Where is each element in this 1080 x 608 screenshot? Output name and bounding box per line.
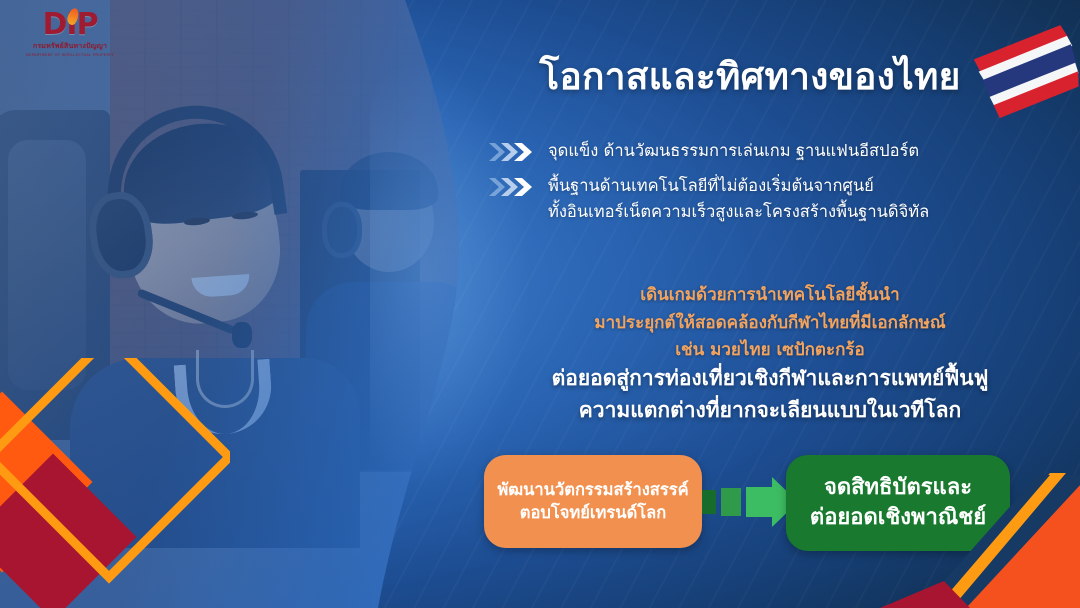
flow-diagram: พัฒนานวัตกรรมสร้างสรรค์ ตอบโจทย์เทรนด์โล… [480,455,1080,555]
flow-step-one[interactable]: พัฒนานวัตกรรมสร้างสรรค์ ตอบโจทย์เทรนด์โล… [484,455,702,548]
list-item-line: ทั้งอินเทอร์เน็ตความเร็วสูงและโครงสร้างพ… [548,202,929,221]
list-item-label: พื้นฐานด้านเทคโนโลยีที่ไม่ต้องเริ่มต้นจา… [548,173,929,226]
emphasis-line: ต่อยอดสู่การท่องเที่ยวเชิงกีฬาและการแพทย… [470,363,1070,395]
highlight-paragraph: เดินเกมด้วยการนำเทคโนโลยีชั้นนำ มาประยุก… [470,282,1070,365]
list-item-line: พื้นฐานด้านเทคโนโลยีที่ไม่ต้องเริ่มต้นจา… [548,176,874,195]
highlight-line: เดินเกมด้วยการนำเทคโนโลยีชั้นนำ [470,282,1070,310]
flow-step-two-line: จดสิทธิบัตรและ [810,473,986,503]
right-arrow-icon [702,477,798,527]
content-column: โอกาสและทิศทางของไทย จุดแข็ง ด้านวัฒนธรร… [470,0,1080,608]
flow-step-one-text: พัฒนานวัตกรรมสร้างสรรค์ ตอบโจทย์เทรนด์โล… [497,479,688,525]
infographic-slide: DIP กรมทรัพย์สินทางปัญญา DEPARTMENT OF I… [0,0,1080,608]
logo-english-name: DEPARTMENT OF INTELLECTUAL PROPERTY [24,53,116,57]
flow-step-one-line: พัฒนานวัตกรรมสร้างสรรค์ [497,479,688,502]
emphasis-line: ความแตกต่างที่ยากจะเลียนแบบในเวทีโลก [470,395,1070,427]
double-chevron-right-icon [488,141,534,163]
flow-step-two[interactable]: จดสิทธิบัตรและ ต่อยอดเชิงพาณิชย์ [786,455,1010,551]
list-item: พื้นฐานด้านเทคโนโลยีที่ไม่ต้องเริ่มต้นจา… [488,173,1078,226]
flow-step-two-text: จดสิทธิบัตรและ ต่อยอดเชิงพาณิชย์ [810,473,986,534]
page-title: โอกาสและทิศทางของไทย [470,55,1030,99]
flow-step-one-line: ตอบโจทย์เทรนด์โลก [497,502,688,525]
logo-thai-name: กรมทรัพย์สินทางปัญญา [24,41,116,52]
double-chevron-right-icon [488,176,534,198]
list-item: จุดแข็ง ด้านวัฒนธรรมการเล่นเกม ฐานแฟนอีส… [488,138,1078,165]
flow-step-two-line: ต่อยอดเชิงพาณิชย์ [810,503,986,533]
dip-logo[interactable]: DIP กรมทรัพย์สินทางปัญญา DEPARTMENT OF I… [24,10,116,68]
bullet-list: จุดแข็ง ด้านวัฒนธรรมการเล่นเกม ฐานแฟนอีส… [488,138,1078,234]
highlight-line: มาประยุกต์ให้สอดคล้องกับกีฬาไทยที่มีเอกล… [470,310,1070,338]
emphasis-paragraph: ต่อยอดสู่การท่องเที่ยวเชิงกีฬาและการแพทย… [470,363,1070,426]
highlight-line: เช่น มวยไทย เซปักตะกร้อ [470,337,1070,365]
list-item-label: จุดแข็ง ด้านวัฒนธรรมการเล่นเกม ฐานแฟนอีส… [548,138,919,165]
